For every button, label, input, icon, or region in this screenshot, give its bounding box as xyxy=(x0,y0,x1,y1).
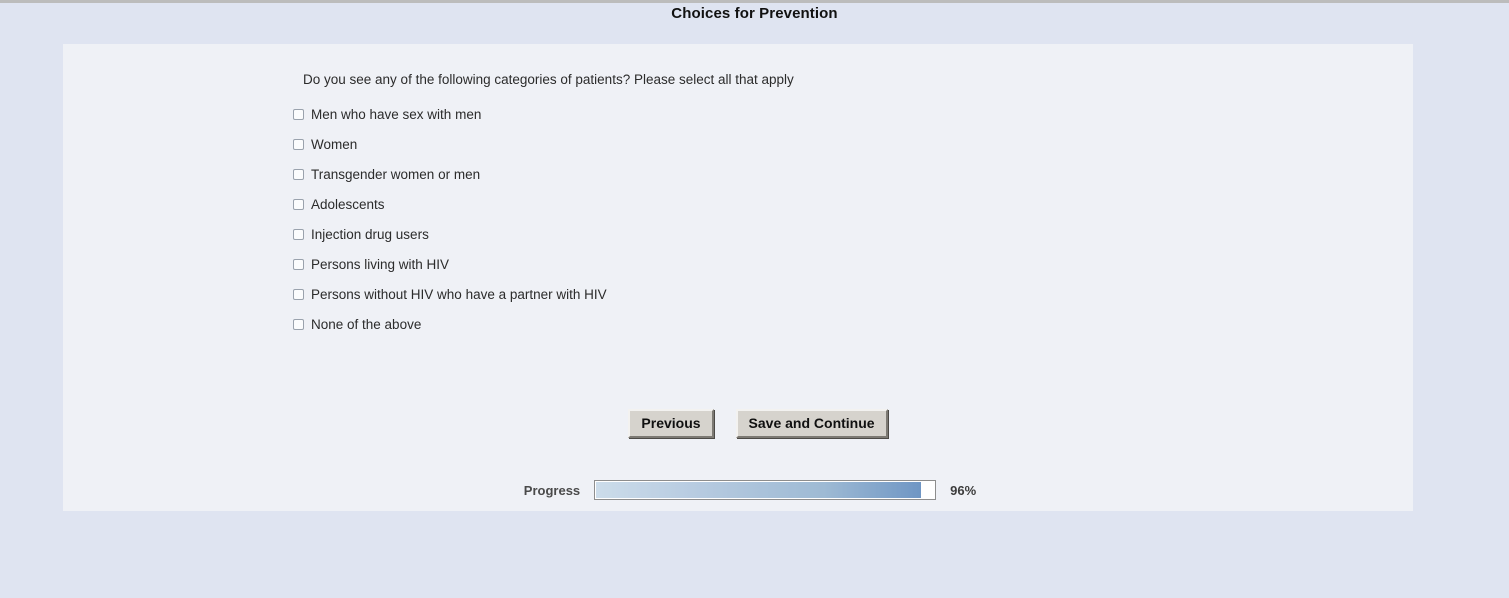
option-row[interactable]: Women xyxy=(293,129,607,159)
option-row[interactable]: Adolescents xyxy=(293,189,607,219)
option-label: Women xyxy=(311,137,357,152)
top-gray-strip xyxy=(0,0,1509,3)
option-label: Adolescents xyxy=(311,197,385,212)
option-label: Persons living with HIV xyxy=(311,257,449,272)
question-text: Do you see any of the following categori… xyxy=(303,72,794,87)
progress-bar-track xyxy=(594,480,936,500)
page-title: Choices for Prevention xyxy=(0,5,1509,22)
option-row[interactable]: Men who have sex with men xyxy=(293,99,607,129)
option-label: None of the above xyxy=(311,317,421,332)
save-and-continue-button[interactable]: Save and Continue xyxy=(736,409,888,438)
option-label: Injection drug users xyxy=(311,227,429,242)
option-label: Men who have sex with men xyxy=(311,107,481,122)
progress-percent-text: 96% xyxy=(950,483,976,498)
progress-bar-fill xyxy=(596,482,920,498)
checkbox-injection-drug-users[interactable] xyxy=(293,229,304,240)
option-row[interactable]: Transgender women or men xyxy=(293,159,607,189)
option-row[interactable]: Persons without HIV who have a partner w… xyxy=(293,279,607,309)
checkbox-none-of-the-above[interactable] xyxy=(293,319,304,330)
progress-section: Progress 96% xyxy=(63,480,1413,500)
survey-panel: Do you see any of the following categori… xyxy=(63,44,1413,511)
option-row[interactable]: Injection drug users xyxy=(293,219,607,249)
checkbox-transgender-women-or-men[interactable] xyxy=(293,169,304,180)
checkbox-persons-without-hiv-partner-with-hiv[interactable] xyxy=(293,289,304,300)
checkbox-adolescents[interactable] xyxy=(293,199,304,210)
option-row[interactable]: Persons living with HIV xyxy=(293,249,607,279)
form-actions: Previous Save and Continue xyxy=(63,409,1413,438)
previous-button[interactable]: Previous xyxy=(628,409,713,438)
progress-label: Progress xyxy=(524,483,580,498)
checkbox-options-list: Men who have sex with men Women Transgen… xyxy=(293,99,607,339)
option-row[interactable]: None of the above xyxy=(293,309,607,339)
checkbox-persons-living-with-hiv[interactable] xyxy=(293,259,304,270)
checkbox-women[interactable] xyxy=(293,139,304,150)
checkbox-men-who-have-sex-with-men[interactable] xyxy=(293,109,304,120)
option-label: Transgender women or men xyxy=(311,167,480,182)
option-label: Persons without HIV who have a partner w… xyxy=(311,287,607,302)
